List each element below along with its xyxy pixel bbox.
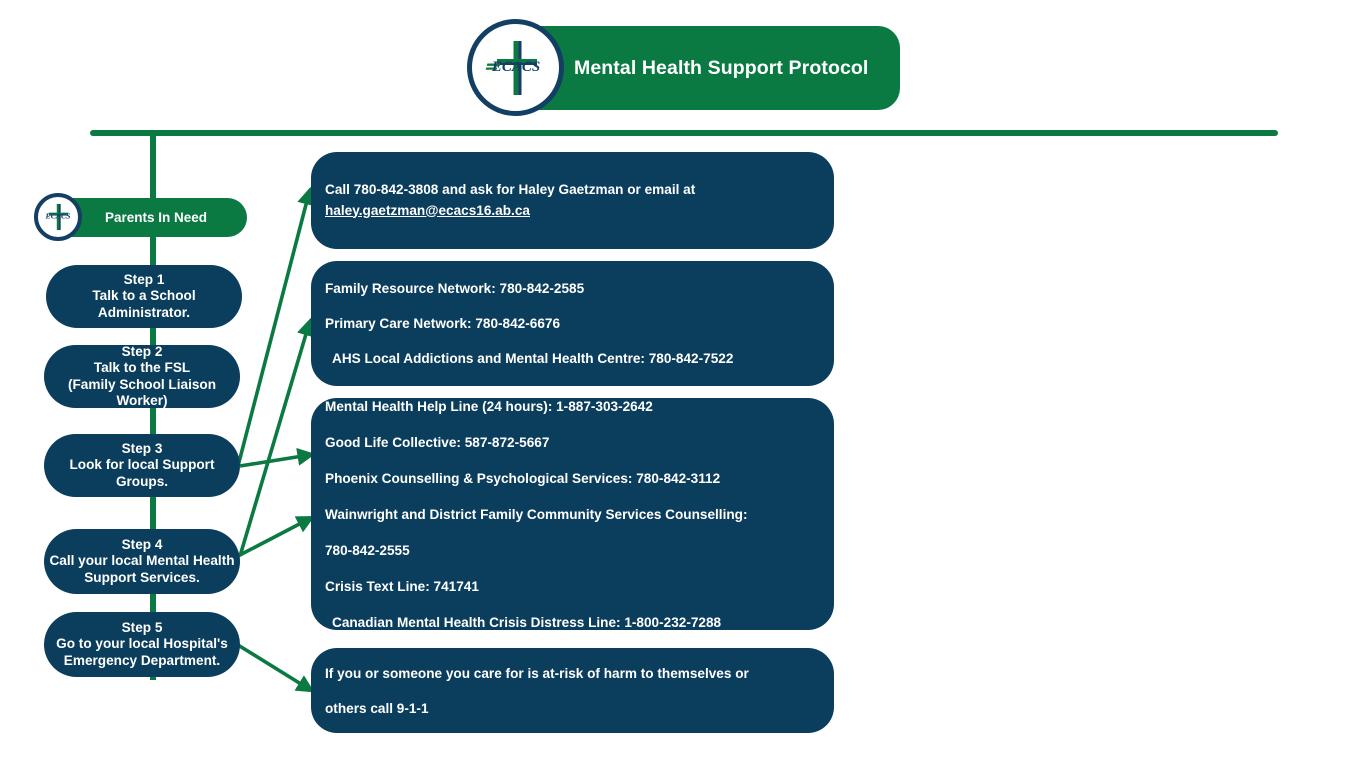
step-pill-5[interactable]: Step 5 Go to your local Hospital's Emerg… xyxy=(44,612,240,677)
step-body-line2: (Family School Liaison xyxy=(68,377,216,393)
mental-health-protocol-infographic: Mental Health Support Protocol ECACS xyxy=(0,0,1366,768)
ecacs-cross-logo-icon: ECACS xyxy=(34,193,82,241)
resource-card-2: Family Resource Network: 780-842-2585 Pr… xyxy=(311,261,834,386)
resource-line: If you or someone you care for is at-ris… xyxy=(325,664,820,683)
resource-card-3: Mental Health Help Line (24 hours): 1-88… xyxy=(311,398,834,630)
step-title: Step 2 xyxy=(122,344,163,360)
arrow-step3-to-card3 xyxy=(240,455,309,466)
resource-card-4: If you or someone you care for is at-ris… xyxy=(311,648,834,733)
resource-line: Crisis Text Line: 741741 xyxy=(325,577,820,596)
step-body-line3: Worker) xyxy=(116,393,167,409)
step-body: Look for local Support Groups. xyxy=(44,457,240,490)
step-title: Step 4 xyxy=(122,537,163,553)
resource-card-1: Call 780-842-3808 and ask for Haley Gaet… xyxy=(311,152,834,249)
resource-line-continued: 780-842-2555 xyxy=(325,541,820,560)
step-pill-4[interactable]: Step 4 Call your local Mental Health Sup… xyxy=(44,529,240,594)
svg-text:ECACS: ECACS xyxy=(45,211,71,220)
step-pill-3[interactable]: Step 3 Look for local Support Groups. xyxy=(44,434,240,497)
step-pill-1[interactable]: Step 1 Talk to a School Administrator. xyxy=(46,265,242,328)
step-title: Step 1 xyxy=(124,272,165,288)
resource-line: Family Resource Network: 780-842-2585 xyxy=(325,279,820,298)
ecacs-cross-logo-icon: ECACS xyxy=(467,19,564,116)
arrow-step2-to-card2 xyxy=(240,324,309,556)
step-body: Talk to a School Administrator. xyxy=(46,288,242,321)
arrow-step5-to-card4 xyxy=(238,645,309,689)
svg-text:ECACS: ECACS xyxy=(490,59,539,75)
resource-line: Phoenix Counselling & Psychological Serv… xyxy=(325,469,820,488)
step-title: Step 3 xyxy=(122,441,163,457)
resource-line: Canadian Mental Health Crisis Distress L… xyxy=(325,613,820,632)
step-body: Go to your local Hospital's Emergency De… xyxy=(44,636,240,669)
step-pill-2[interactable]: Step 2 Talk to the FSL (Family School Li… xyxy=(44,345,240,408)
step-body: Talk to the FSL xyxy=(94,360,190,376)
resource-line: Mental Health Help Line (24 hours): 1-88… xyxy=(325,397,820,416)
email-link[interactable]: haley.gaetzman@ecacs16.ab.ca xyxy=(325,203,530,218)
resource-line: Wainwright and District Family Community… xyxy=(325,505,820,524)
arrow-step1-to-card1 xyxy=(238,193,309,466)
resource-line: AHS Local Addictions and Mental Health C… xyxy=(325,349,820,368)
step-body: Call your local Mental Health Support Se… xyxy=(44,553,240,586)
resource-line-continued: others call 9-1-1 xyxy=(325,699,820,718)
card1-text: Call 780-842-3808 and ask for Haley Gaet… xyxy=(325,182,695,197)
resource-line: Primary Care Network: 780-842-6676 xyxy=(325,314,820,333)
step-title: Step 5 xyxy=(122,620,163,636)
resource-line: Good Life Collective: 587-872-5667 xyxy=(325,433,820,452)
